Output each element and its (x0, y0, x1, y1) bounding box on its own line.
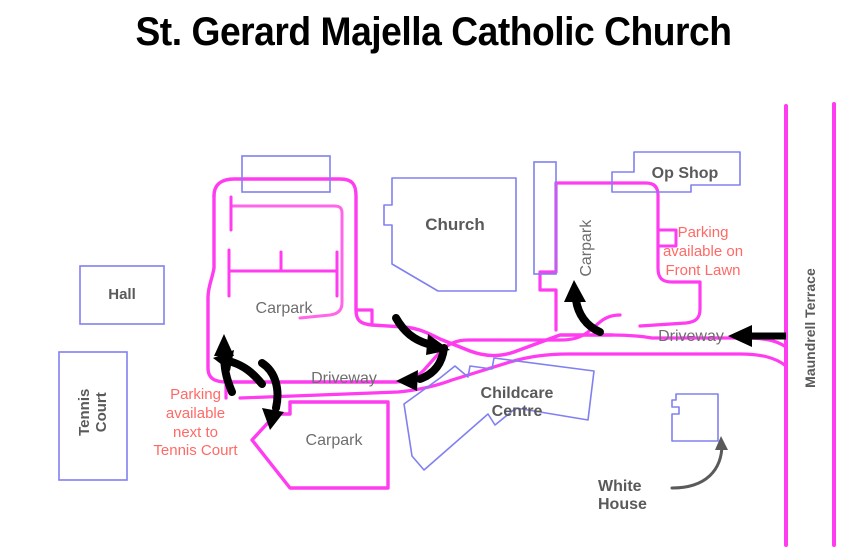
label-white-house-line2: House (598, 496, 668, 514)
carpark-main-boundary-west (208, 196, 396, 382)
label-church: Church (400, 215, 510, 235)
carpark-east-boundary-west (540, 183, 556, 330)
label-op-shop: Op Shop (640, 165, 730, 183)
label-white-house-line1: White (598, 478, 668, 496)
note-tennis-court: Parking available next to Tennis Court (133, 386, 258, 461)
label-tennis-court-line1: Tennis (76, 362, 93, 462)
label-tennis-court: Tennis Court (76, 362, 111, 462)
label-tennis-court-line2: Court (93, 362, 110, 462)
building-white-house (672, 394, 718, 441)
building-north-shed (242, 156, 330, 192)
map-page: St. Gerard Majella Catholic Church (0, 0, 867, 550)
note-front-lawn: Parking available on Front Lawn (638, 224, 768, 280)
label-driveway-north: Driveway (645, 328, 737, 346)
label-carpark-east: Carpark (578, 202, 596, 294)
label-white-house: White House (598, 478, 668, 515)
label-maundrell-terrace: Maundrell Terrace (802, 248, 818, 408)
label-childcare-centre-line1: Childcare (452, 385, 582, 403)
building-presbytery-strip (534, 162, 556, 274)
label-childcare-centre: Childcare Centre (452, 385, 582, 422)
label-childcare-centre-line2: Centre (452, 403, 582, 421)
label-carpark-lower: Carpark (288, 432, 380, 450)
label-driveway-south: Driveway (298, 370, 390, 388)
label-hall: Hall (82, 286, 162, 303)
arrow-white-house (672, 436, 728, 488)
label-carpark-main: Carpark (238, 300, 330, 318)
